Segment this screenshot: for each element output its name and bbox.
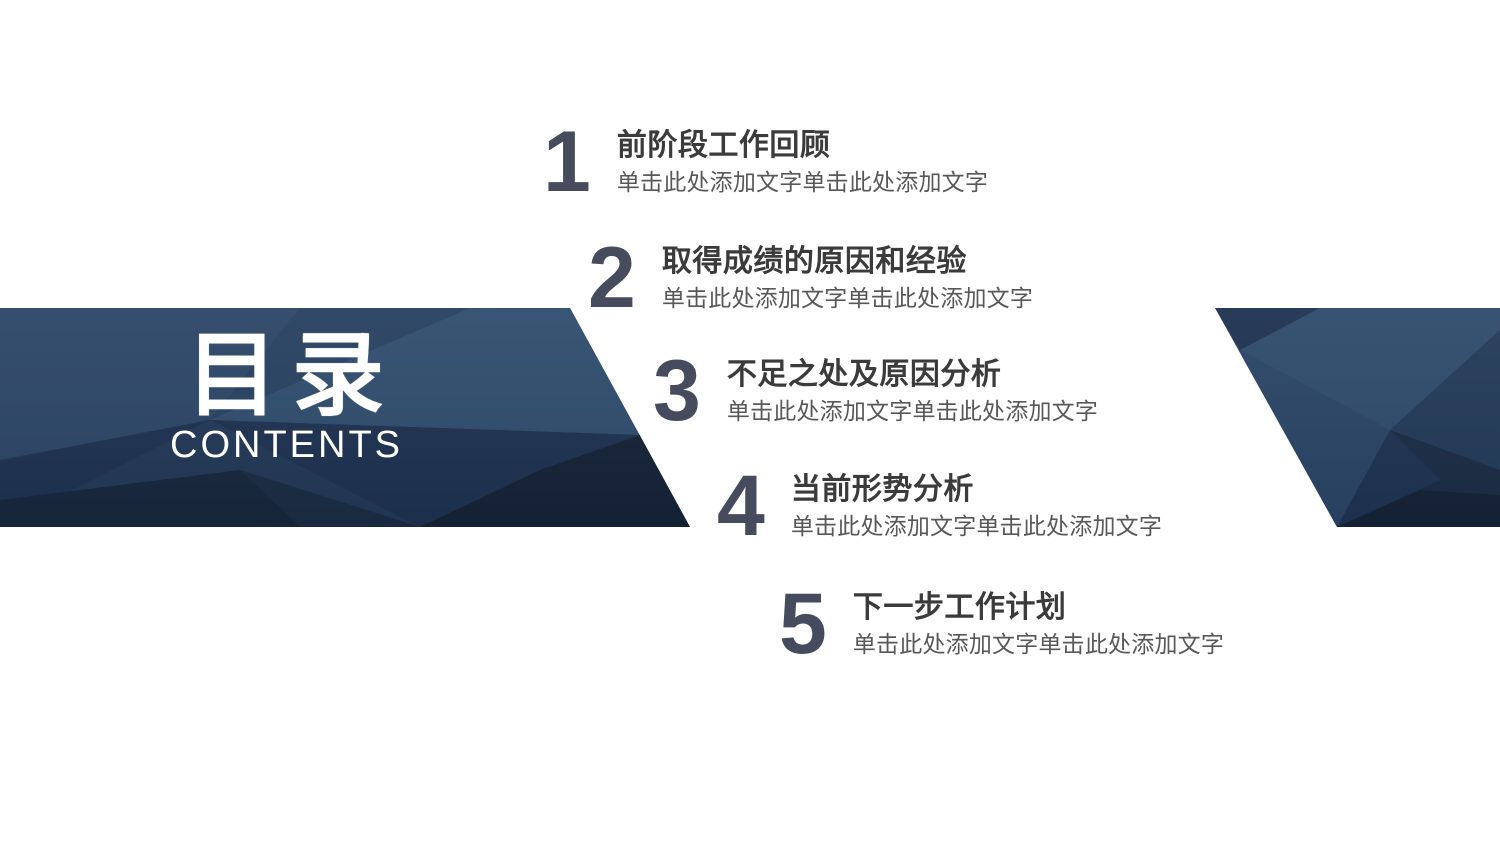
toc-subtitle: 单击此处添加文字单击此处添加文字 (853, 631, 1224, 659)
toc-title: 下一步工作计划 (853, 590, 1224, 627)
toc-text-group: 不足之处及原因分析 单击此处添加文字单击此处添加文字 (727, 353, 1098, 425)
toc-number: 2 (588, 242, 636, 316)
toc-item-2[interactable]: 2 取得成绩的原因和经验 单击此处添加文字单击此处添加文字 (588, 240, 1033, 316)
toc-number: 3 (653, 355, 701, 429)
table-of-contents: 1 前阶段工作回顾 单击此处添加文字单击此处添加文字 2 取得成绩的原因和经验 … (0, 0, 1500, 844)
toc-text-group: 前阶段工作回顾 单击此处添加文字单击此处添加文字 (617, 124, 988, 196)
toc-number: 1 (543, 126, 591, 200)
toc-text-group: 取得成绩的原因和经验 单击此处添加文字单击此处添加文字 (662, 240, 1033, 312)
toc-number: 5 (779, 588, 827, 662)
toc-title: 不足之处及原因分析 (727, 357, 1098, 394)
toc-number: 4 (717, 470, 765, 544)
toc-item-3[interactable]: 3 不足之处及原因分析 单击此处添加文字单击此处添加文字 (653, 353, 1098, 429)
toc-text-group: 下一步工作计划 单击此处添加文字单击此处添加文字 (853, 586, 1224, 658)
toc-title: 当前形势分析 (791, 472, 1162, 509)
toc-item-5[interactable]: 5 下一步工作计划 单击此处添加文字单击此处添加文字 (779, 586, 1224, 662)
toc-subtitle: 单击此处添加文字单击此处添加文字 (617, 169, 988, 197)
toc-subtitle: 单击此处添加文字单击此处添加文字 (662, 285, 1033, 313)
toc-title: 前阶段工作回顾 (617, 128, 988, 165)
toc-title: 取得成绩的原因和经验 (662, 244, 1033, 281)
toc-text-group: 当前形势分析 单击此处添加文字单击此处添加文字 (791, 468, 1162, 540)
toc-item-4[interactable]: 4 当前形势分析 单击此处添加文字单击此处添加文字 (717, 468, 1162, 544)
slide-canvas: 目录 CONTENTS 1 前阶段工作回顾 单击此处添加文字单击此处添加文字 2… (0, 0, 1500, 844)
toc-item-1[interactable]: 1 前阶段工作回顾 单击此处添加文字单击此处添加文字 (543, 124, 988, 200)
toc-subtitle: 单击此处添加文字单击此处添加文字 (791, 513, 1162, 541)
toc-subtitle: 单击此处添加文字单击此处添加文字 (727, 398, 1098, 426)
